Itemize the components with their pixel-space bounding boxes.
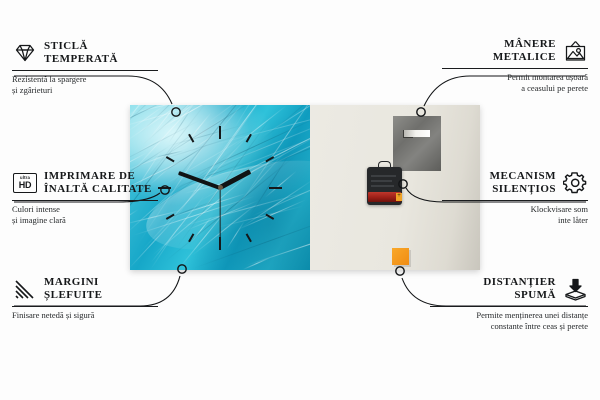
clock-tick bbox=[219, 126, 221, 188]
ultra-hd-icon-big-text: HD bbox=[19, 181, 32, 190]
feature-handles: MÂNEREMETALICE Permit montarea ușoarăa c… bbox=[442, 38, 588, 93]
feature-spacer-head: DISTANȚIERSPUMĂ bbox=[430, 276, 588, 302]
feature-mechanism: MECANISMSILENȚIOS Klockvisare sominte lå… bbox=[442, 170, 588, 225]
picture-hanger-icon bbox=[562, 39, 588, 63]
feature-print-desc: Culori intenseși imagine clară bbox=[12, 204, 158, 225]
feature-print: ultra HD IMPRIMARE DEÎNALTĂ CALITATE Cul… bbox=[12, 170, 158, 225]
feature-handles-head: MÂNEREMETALICE bbox=[442, 38, 588, 64]
feature-handles-desc: Permit montarea ușoarăa ceasului pe pere… bbox=[442, 72, 588, 93]
polished-edge-icon bbox=[12, 277, 38, 301]
feature-mechanism-title: MECANISMSILENȚIOS bbox=[490, 170, 556, 196]
mechanism-detail bbox=[371, 175, 396, 177]
feature-handles-rule bbox=[442, 68, 588, 69]
feature-print-head: ultra HD IMPRIMARE DEÎNALTĂ CALITATE bbox=[12, 170, 158, 196]
feature-print-rule bbox=[12, 200, 158, 201]
clock-second-hand bbox=[219, 188, 220, 240]
gear-icon bbox=[562, 171, 588, 195]
feature-mechanism-rule bbox=[442, 200, 588, 201]
feature-glass: STICLĂTEMPERATĂ Rezistentă la spargereși… bbox=[12, 40, 158, 95]
hanger-slot bbox=[404, 130, 431, 137]
battery-positive-cap bbox=[396, 193, 401, 201]
feature-glass-title: STICLĂTEMPERATĂ bbox=[44, 40, 118, 66]
feature-spacer-title: DISTANȚIERSPUMĂ bbox=[483, 276, 556, 302]
diamond-icon bbox=[12, 41, 38, 65]
mechanism-detail bbox=[371, 185, 394, 187]
feature-glass-desc: Rezistentă la spargereși zgârieturi bbox=[12, 74, 158, 95]
battery-part bbox=[368, 192, 400, 202]
feature-edges-rule bbox=[12, 306, 158, 307]
metal-hanger-part bbox=[393, 116, 441, 171]
ultra-hd-icon: ultra HD bbox=[12, 171, 38, 195]
foam-spacer-part bbox=[392, 248, 409, 265]
feature-mechanism-head: MECANISMSILENȚIOS bbox=[442, 170, 588, 196]
feature-edges-desc: Finisare netedă și sigură bbox=[12, 310, 158, 321]
feature-glass-head: STICLĂTEMPERATĂ bbox=[12, 40, 158, 66]
feature-edges-title: MARGINIȘLEFUITE bbox=[44, 276, 102, 302]
clock-pivot bbox=[218, 185, 223, 190]
mechanism-detail bbox=[371, 180, 392, 182]
clock-mechanism-part bbox=[367, 167, 402, 205]
feature-spacer-desc: Permite menținerea unei distanțeconstant… bbox=[430, 310, 588, 331]
feature-print-title: IMPRIMARE DEÎNALTĂ CALITATE bbox=[44, 170, 152, 196]
spacer-stack-icon bbox=[562, 277, 588, 301]
feature-spacer-rule bbox=[430, 306, 588, 307]
feature-handles-title: MÂNEREMETALICE bbox=[493, 38, 556, 64]
feature-spacer: DISTANȚIERSPUMĂ Permite menținerea unei … bbox=[430, 276, 588, 331]
product-feature-infographic: STICLĂTEMPERATĂ Rezistentă la spargereși… bbox=[0, 0, 600, 400]
feature-edges-head: MARGINIȘLEFUITE bbox=[12, 276, 158, 302]
clock-tick bbox=[220, 187, 282, 189]
feature-edges: MARGINIȘLEFUITE Finisare netedă și sigur… bbox=[12, 276, 158, 321]
feature-glass-rule bbox=[12, 70, 158, 71]
feature-mechanism-desc: Klockvisare sominte låter bbox=[442, 204, 588, 225]
mechanism-hanger-loop bbox=[378, 161, 391, 170]
